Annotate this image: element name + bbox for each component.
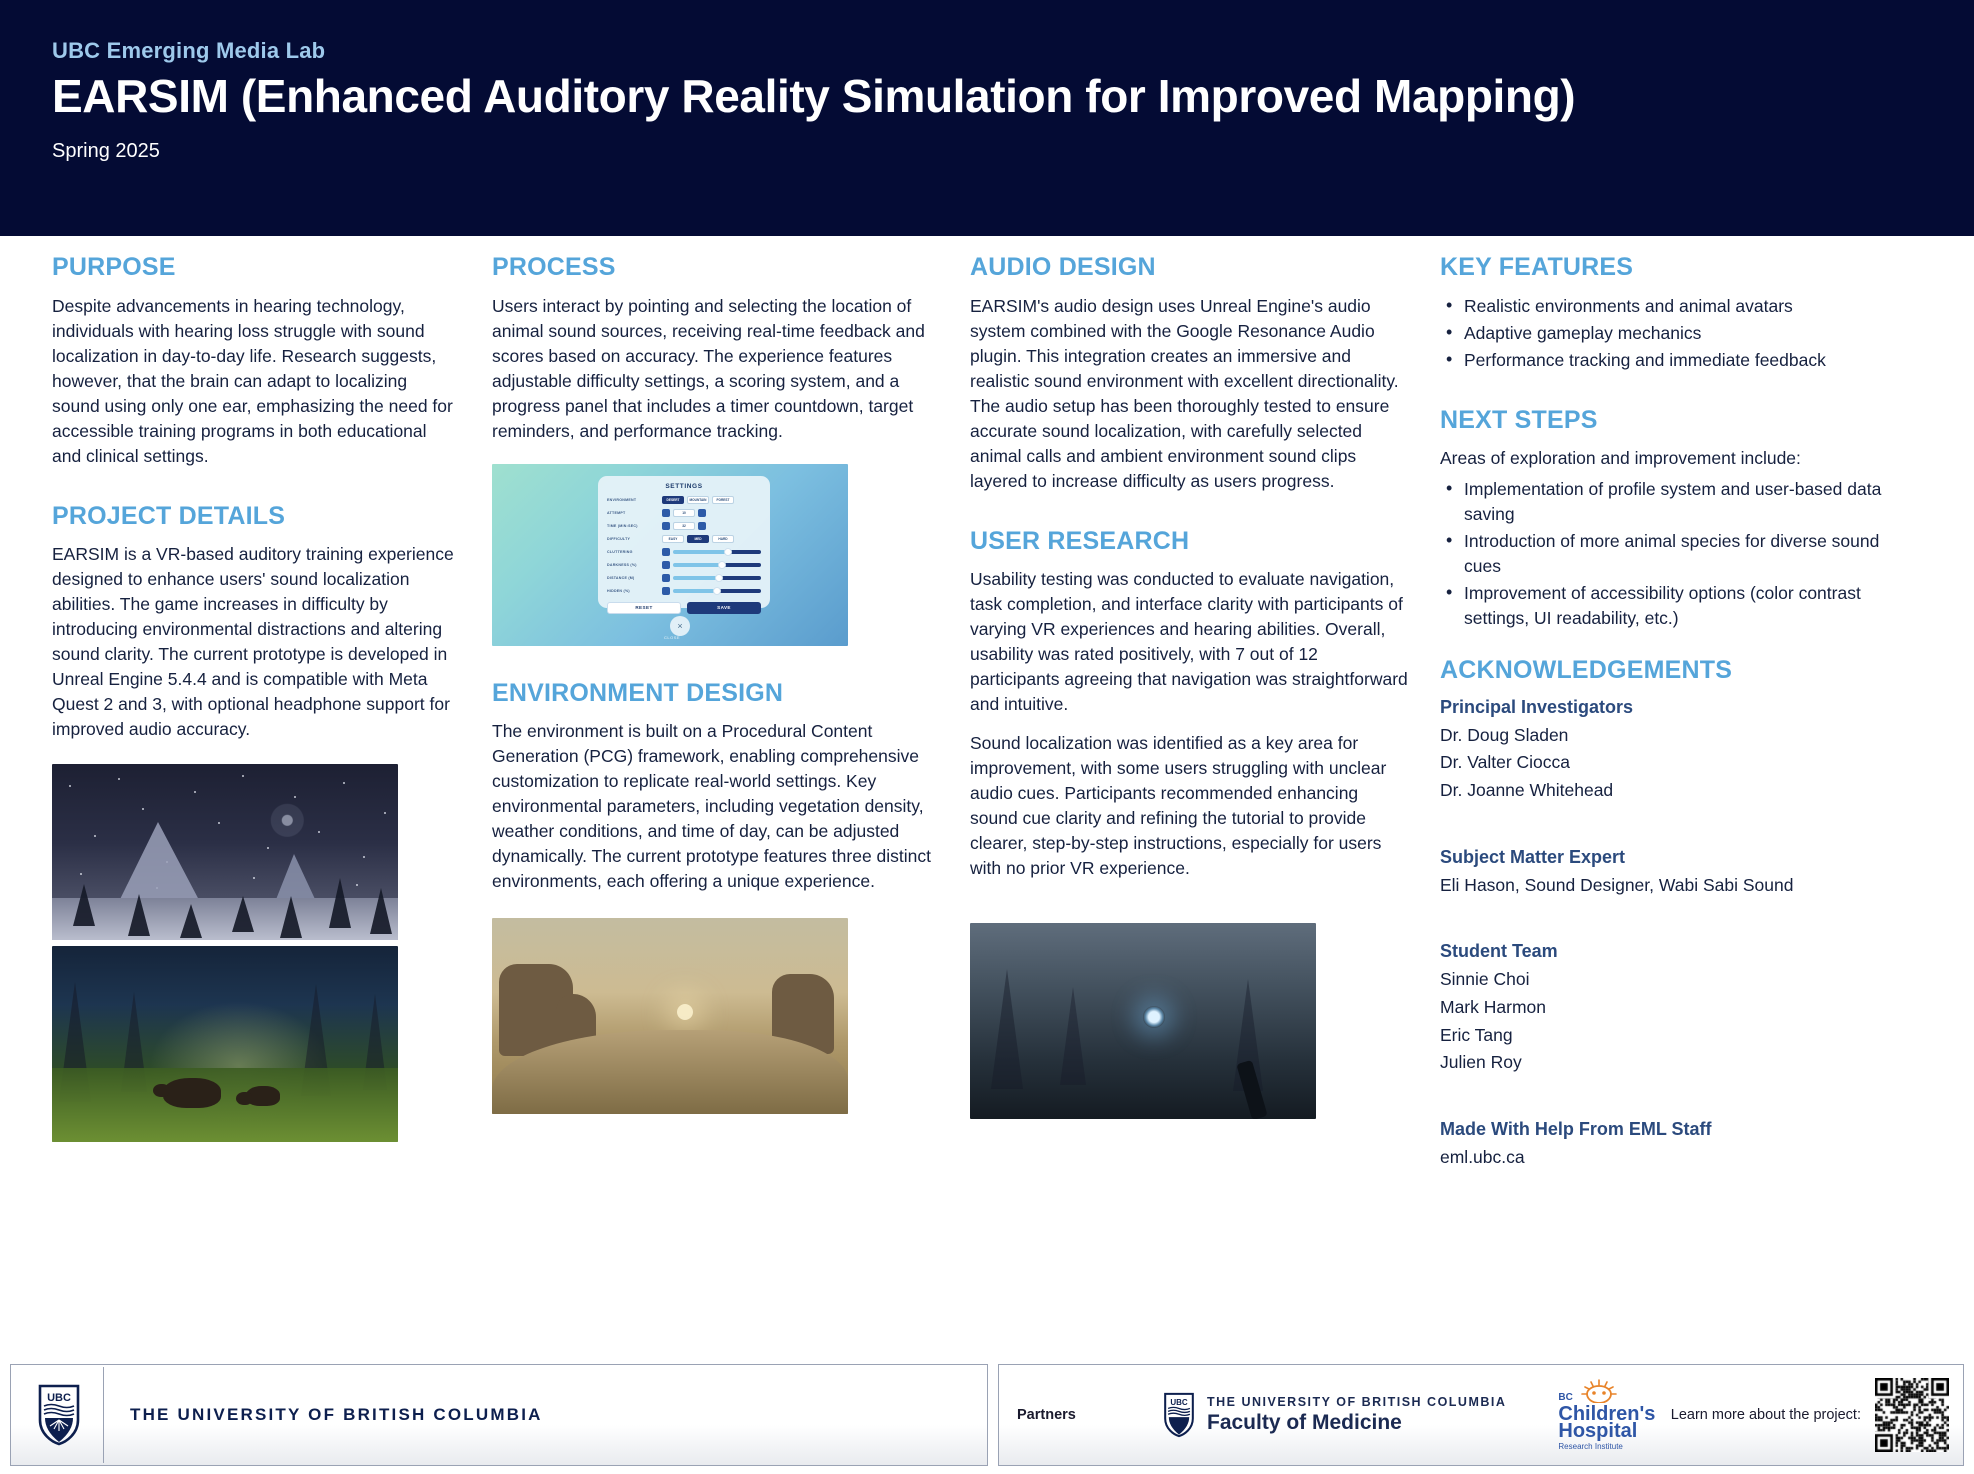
close-icon[interactable]: × bbox=[670, 616, 690, 636]
chip-hard[interactable]: HARD bbox=[712, 535, 734, 543]
settings-label-environment: ENVIRONMENT bbox=[607, 498, 662, 502]
poster-title: EARSIM (Enhanced Auditory Reality Simula… bbox=[52, 72, 1974, 122]
boar-avatar-large bbox=[163, 1078, 221, 1108]
sound-source-orb bbox=[1143, 1006, 1165, 1028]
text-user-research-2: Sound localization was identified as a k… bbox=[970, 731, 1410, 881]
heading-acknowledgements: ACKNOWLEDGEMENTS bbox=[1440, 657, 1910, 685]
footer-ubc-block: UBC THE UNIVERSITY OF BRITISH COLUMBIA bbox=[10, 1364, 988, 1466]
text-project-details: EARSIM is a VR-based auditory training e… bbox=[52, 542, 456, 742]
student-name: Sinnie Choi bbox=[1440, 966, 1910, 994]
settings-label-darkness: DARKNESS (%) bbox=[607, 563, 662, 567]
time-value: 32 bbox=[673, 522, 695, 530]
list-next-steps: Implementation of profile system and use… bbox=[1440, 477, 1910, 631]
chip-mountain[interactable]: MOUNTAIN bbox=[687, 496, 709, 504]
column-3: AUDIO DESIGN EARSIM's audio design uses … bbox=[970, 254, 1440, 1364]
list-item: Realistic environments and animal avatar… bbox=[1440, 294, 1910, 319]
distance-decrement-button[interactable] bbox=[662, 574, 670, 582]
settings-row-time: TIME (MIN:SEC) 32 bbox=[607, 521, 761, 532]
hidden-slider[interactable] bbox=[673, 589, 761, 593]
heading-next-steps: NEXT STEPS bbox=[1440, 407, 1910, 435]
heading-key-features: KEY FEATURES bbox=[1440, 254, 1910, 282]
list-item: Performance tracking and immediate feedb… bbox=[1440, 348, 1910, 373]
settings-row-attempt: ATTEMPT 10 bbox=[607, 508, 761, 519]
text-process: Users interact by pointing and selecting… bbox=[492, 294, 944, 444]
image-forest-environment bbox=[52, 946, 398, 1142]
heading-user-research: USER RESEARCH bbox=[970, 528, 1410, 556]
sme-name: Eli Hason, Sound Designer, Wabi Sabi Sou… bbox=[1440, 872, 1910, 900]
settings-row-distance: DISTANCE (M) bbox=[607, 573, 761, 584]
poster-term: Spring 2025 bbox=[52, 140, 1974, 163]
bcch-bc-label: BC bbox=[1558, 1393, 1572, 1403]
settings-row-environment: ENVIRONMENT DESERT MOUNTAIN FOREST bbox=[607, 495, 761, 506]
poster-header: UBC Emerging Media Lab EARSIM (Enhanced … bbox=[0, 0, 1974, 236]
chip-easy[interactable]: EASY bbox=[662, 535, 684, 543]
pi-name: Dr. Doug Sladen bbox=[1440, 722, 1910, 750]
text-user-research-1: Usability testing was conducted to evalu… bbox=[970, 567, 1410, 717]
forest-grass bbox=[52, 1068, 398, 1142]
pi-name: Dr. Valter Ciocca bbox=[1440, 749, 1910, 777]
learn-more-label: Learn more about the project: bbox=[1671, 1406, 1875, 1424]
partners-label: Partners bbox=[1017, 1407, 1137, 1423]
heading-audio-design: AUDIO DESIGN bbox=[970, 254, 1410, 282]
bc-childrens-hospital-logo: BC bbox=[1558, 1379, 1655, 1451]
image-settings-ui: SETTINGS ENVIRONMENT DESERT MOUNTAIN FOR… bbox=[492, 464, 848, 646]
bcch-line-3: Research Institute bbox=[1558, 1443, 1655, 1451]
eml-website[interactable]: eml.ubc.ca bbox=[1440, 1144, 1910, 1172]
list-item: Introduction of more animal species for … bbox=[1440, 529, 1910, 579]
settings-label-hidden: HIDDEN (%) bbox=[607, 589, 662, 593]
sun-glow bbox=[677, 1004, 693, 1020]
settings-label-cluttering: CLUTTERING bbox=[607, 550, 662, 554]
settings-label-difficulty: DIFFICULTY bbox=[607, 537, 662, 541]
poster-body: PURPOSE Despite advancements in hearing … bbox=[0, 236, 1974, 1364]
list-key-features: Realistic environments and animal avatar… bbox=[1440, 294, 1910, 373]
pi-name: Dr. Joanne Whitehead bbox=[1440, 777, 1910, 805]
heading-purpose: PURPOSE bbox=[52, 254, 456, 282]
attempt-value: 10 bbox=[673, 509, 695, 517]
cluttering-decrement-button[interactable] bbox=[662, 548, 670, 556]
heading-process: PROCESS bbox=[492, 254, 944, 282]
poster-footer: UBC THE UNIVERSITY OF BRITISH COLUMBIA P… bbox=[0, 1364, 1974, 1474]
footer-partners-block: Partners UBC THE UNIVERSITY OF BRITISH C… bbox=[998, 1364, 1964, 1466]
heading-project-details: PROJECT DETAILS bbox=[52, 503, 456, 531]
image-desert-environment bbox=[492, 918, 848, 1114]
time-increment-button[interactable] bbox=[698, 522, 706, 530]
settings-panel: SETTINGS ENVIRONMENT DESERT MOUNTAIN FOR… bbox=[598, 476, 770, 608]
settings-row-cluttering: CLUTTERING bbox=[607, 547, 761, 558]
settings-row-darkness: DARKNESS (%) bbox=[607, 560, 761, 571]
save-button[interactable]: SAVE bbox=[687, 602, 761, 614]
ubc-crest-icon: UBC bbox=[1163, 1392, 1195, 1438]
label-principal-investigators: Principal Investigators bbox=[1440, 697, 1910, 718]
darkness-slider[interactable] bbox=[673, 563, 761, 567]
svg-text:UBC: UBC bbox=[47, 1392, 71, 1404]
settings-label-time: TIME (MIN:SEC) bbox=[607, 524, 662, 528]
ubc-crest-icon: UBC bbox=[37, 1384, 81, 1446]
column-4: KEY FEATURES Realistic environments and … bbox=[1440, 254, 1910, 1364]
image-dark-gameplay bbox=[970, 923, 1316, 1119]
attempt-increment-button[interactable] bbox=[698, 509, 706, 517]
fom-university-line: THE UNIVERSITY OF BRITISH COLUMBIA bbox=[1207, 1395, 1506, 1409]
hidden-decrement-button[interactable] bbox=[662, 587, 670, 595]
settings-title: SETTINGS bbox=[607, 483, 761, 490]
cluttering-slider[interactable] bbox=[673, 550, 761, 554]
faculty-of-medicine-logo: UBC THE UNIVERSITY OF BRITISH COLUMBIA F… bbox=[1163, 1392, 1506, 1438]
image-snow-environment bbox=[52, 764, 398, 940]
list-item: Improvement of accessibility options (co… bbox=[1440, 581, 1910, 631]
label-subject-matter-expert: Subject Matter Expert bbox=[1440, 847, 1910, 868]
chip-forest[interactable]: FOREST bbox=[712, 496, 734, 504]
text-next-steps-intro: Areas of exploration and improvement inc… bbox=[1440, 446, 1910, 471]
settings-actions: RESET SAVE bbox=[607, 602, 761, 614]
boar-avatar-small bbox=[246, 1086, 280, 1106]
label-eml-staff: Made With Help From EML Staff bbox=[1440, 1119, 1910, 1140]
list-item: Adaptive gameplay mechanics bbox=[1440, 321, 1910, 346]
list-item: Implementation of profile system and use… bbox=[1440, 477, 1910, 527]
settings-row-difficulty: DIFFICULTY EASY MED HARD bbox=[607, 534, 761, 545]
fom-faculty-line: Faculty of Medicine bbox=[1207, 1411, 1506, 1435]
reset-button[interactable]: RESET bbox=[607, 602, 681, 614]
settings-label-attempt: ATTEMPT bbox=[607, 511, 662, 515]
sun-face-icon bbox=[1576, 1379, 1622, 1403]
chip-desert[interactable]: DESERT bbox=[662, 496, 684, 504]
time-decrement-button[interactable] bbox=[662, 522, 670, 530]
text-environment-design: The environment is built on a Procedural… bbox=[492, 719, 944, 894]
student-name: Mark Harmon bbox=[1440, 994, 1910, 1022]
chip-med[interactable]: MED bbox=[687, 535, 709, 543]
lab-name: UBC Emerging Media Lab bbox=[52, 38, 1974, 64]
attempt-decrement-button[interactable] bbox=[662, 509, 670, 517]
close-label: CLOSE bbox=[664, 635, 680, 640]
heading-environment-design: ENVIRONMENT DESIGN bbox=[492, 680, 944, 708]
ubc-wordmark: THE UNIVERSITY OF BRITISH COLUMBIA bbox=[130, 1405, 543, 1425]
column-2: PROCESS Users interact by pointing and s… bbox=[492, 254, 970, 1364]
poster-root: UBC Emerging Media Lab EARSIM (Enhanced … bbox=[0, 0, 1974, 1474]
text-purpose: Despite advancements in hearing technolo… bbox=[52, 294, 456, 469]
student-name: Julien Roy bbox=[1440, 1049, 1910, 1077]
darkness-decrement-button[interactable] bbox=[662, 561, 670, 569]
student-name: Eric Tang bbox=[1440, 1022, 1910, 1050]
svg-text:UBC: UBC bbox=[1170, 1398, 1188, 1407]
settings-row-hidden: HIDDEN (%) bbox=[607, 586, 761, 597]
column-1: PURPOSE Despite advancements in hearing … bbox=[52, 254, 492, 1364]
footer-divider bbox=[103, 1367, 104, 1463]
settings-label-distance: DISTANCE (M) bbox=[607, 576, 662, 580]
qr-code[interactable] bbox=[1875, 1378, 1949, 1452]
text-audio-design: EARSIM's audio design uses Unreal Engine… bbox=[970, 294, 1410, 494]
label-student-team: Student Team bbox=[1440, 941, 1910, 962]
distance-slider[interactable] bbox=[673, 576, 761, 580]
